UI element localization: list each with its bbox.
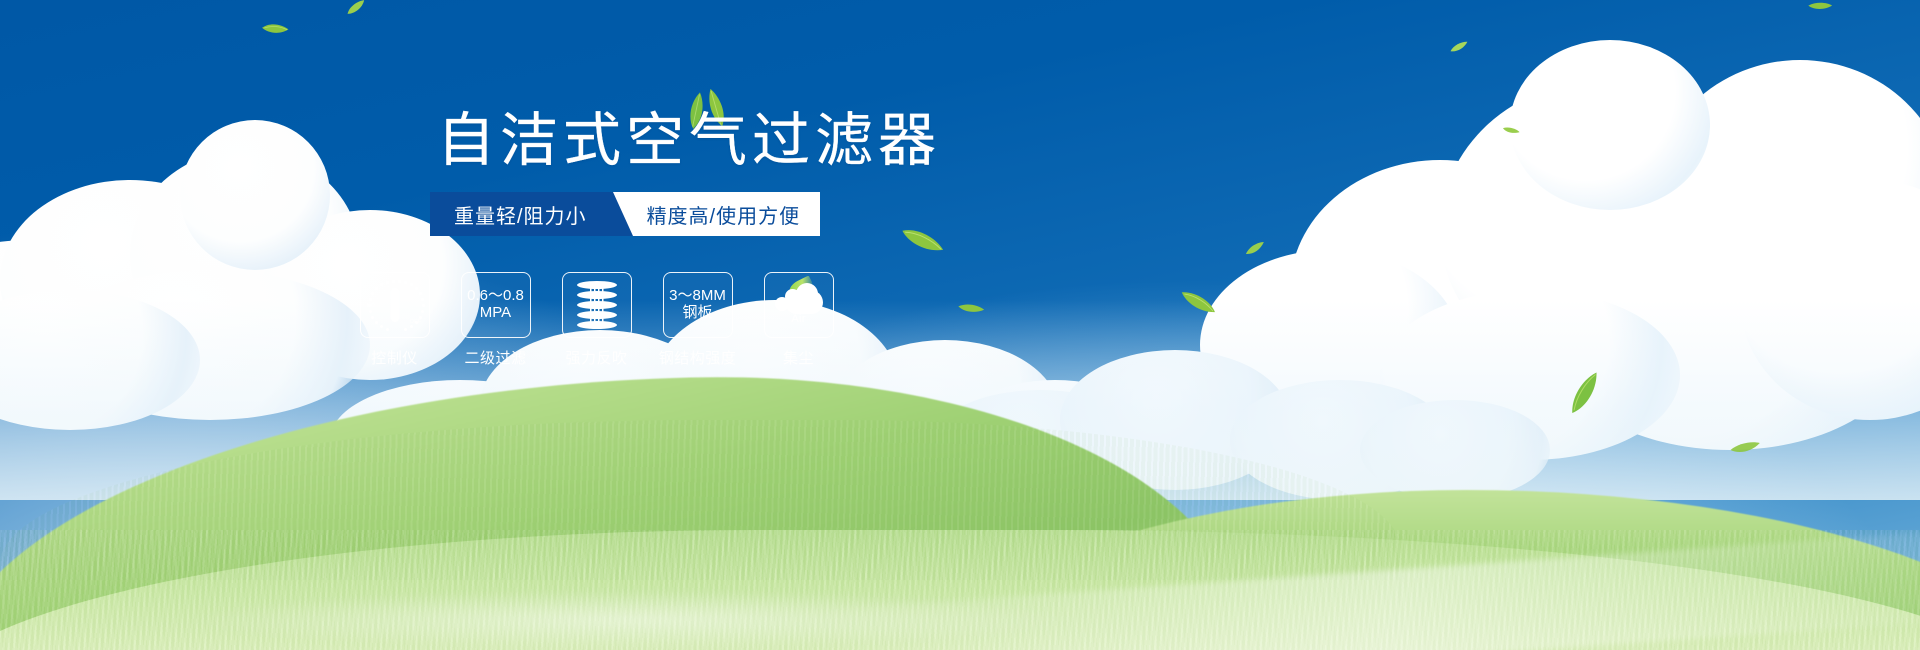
blowback-icon <box>575 281 619 329</box>
subtitle-badge-row: 重量轻/阻力小 精度高/使用方便 <box>430 192 820 236</box>
feature-item-steel[interactable]: 3～8MM 钢板 钢结构强度 <box>661 272 734 368</box>
banner-content: 自洁式空气过滤器 重量轻/阻力小 精度高/使用方便 <box>0 0 1920 650</box>
feature-label-controller: 控制仪 <box>371 347 418 368</box>
gauge-icon: NO OFF <box>367 279 423 331</box>
feature-box-controller: NO OFF <box>360 272 430 338</box>
gauge-needle <box>390 288 399 322</box>
air-label: Air <box>772 313 826 325</box>
feature-box-steel: 3～8MM 钢板 <box>663 272 733 338</box>
subtitle-badge-secondary: 精度高/使用方便 <box>613 192 821 236</box>
feature-label-dustcollect: 集尘 <box>783 347 814 368</box>
subtitle-badge-secondary-label: 精度高/使用方便 <box>647 200 801 229</box>
air-cloud-icon: Air <box>772 282 826 328</box>
page-title: 自洁式空气过滤器 <box>437 112 941 170</box>
feature-item-dustcollect[interactable]: Air 集尘 <box>762 272 835 368</box>
feature-item-filtration[interactable]: 0.6～0.8 MPA 二级过滤 <box>459 272 532 368</box>
steelplate-text: 3～8MM 钢板 <box>669 288 726 322</box>
feature-label-steel: 钢结构强度 <box>659 347 737 368</box>
feature-item-controller[interactable]: NO OFF 控制仪 <box>358 272 431 368</box>
feature-label-blowback: 强力反吹 <box>565 347 627 368</box>
pressure-text: 0.6～0.8 MPA <box>467 288 524 322</box>
hero-banner: 自洁式空气过滤器 重量轻/阻力小 精度高/使用方便 <box>0 0 1920 650</box>
subtitle-badge-primary: 重量轻/阻力小 <box>430 192 613 236</box>
gauge-max-label: OFF <box>410 319 422 325</box>
feature-box-dustcollect: Air <box>764 272 834 338</box>
feature-icon-row: NO OFF 控制仪 0.6～0.8 MPA 二级过滤 <box>358 272 835 368</box>
feature-box-blowback <box>562 272 632 338</box>
feature-box-filtration: 0.6～0.8 MPA <box>461 272 531 338</box>
feature-item-blowback[interactable]: 强力反吹 <box>560 272 633 368</box>
gauge-min-label: NO <box>367 303 376 309</box>
feature-label-filtration: 二级过滤 <box>464 347 526 368</box>
subtitle-badge-primary-label: 重量轻/阻力小 <box>454 200 587 229</box>
